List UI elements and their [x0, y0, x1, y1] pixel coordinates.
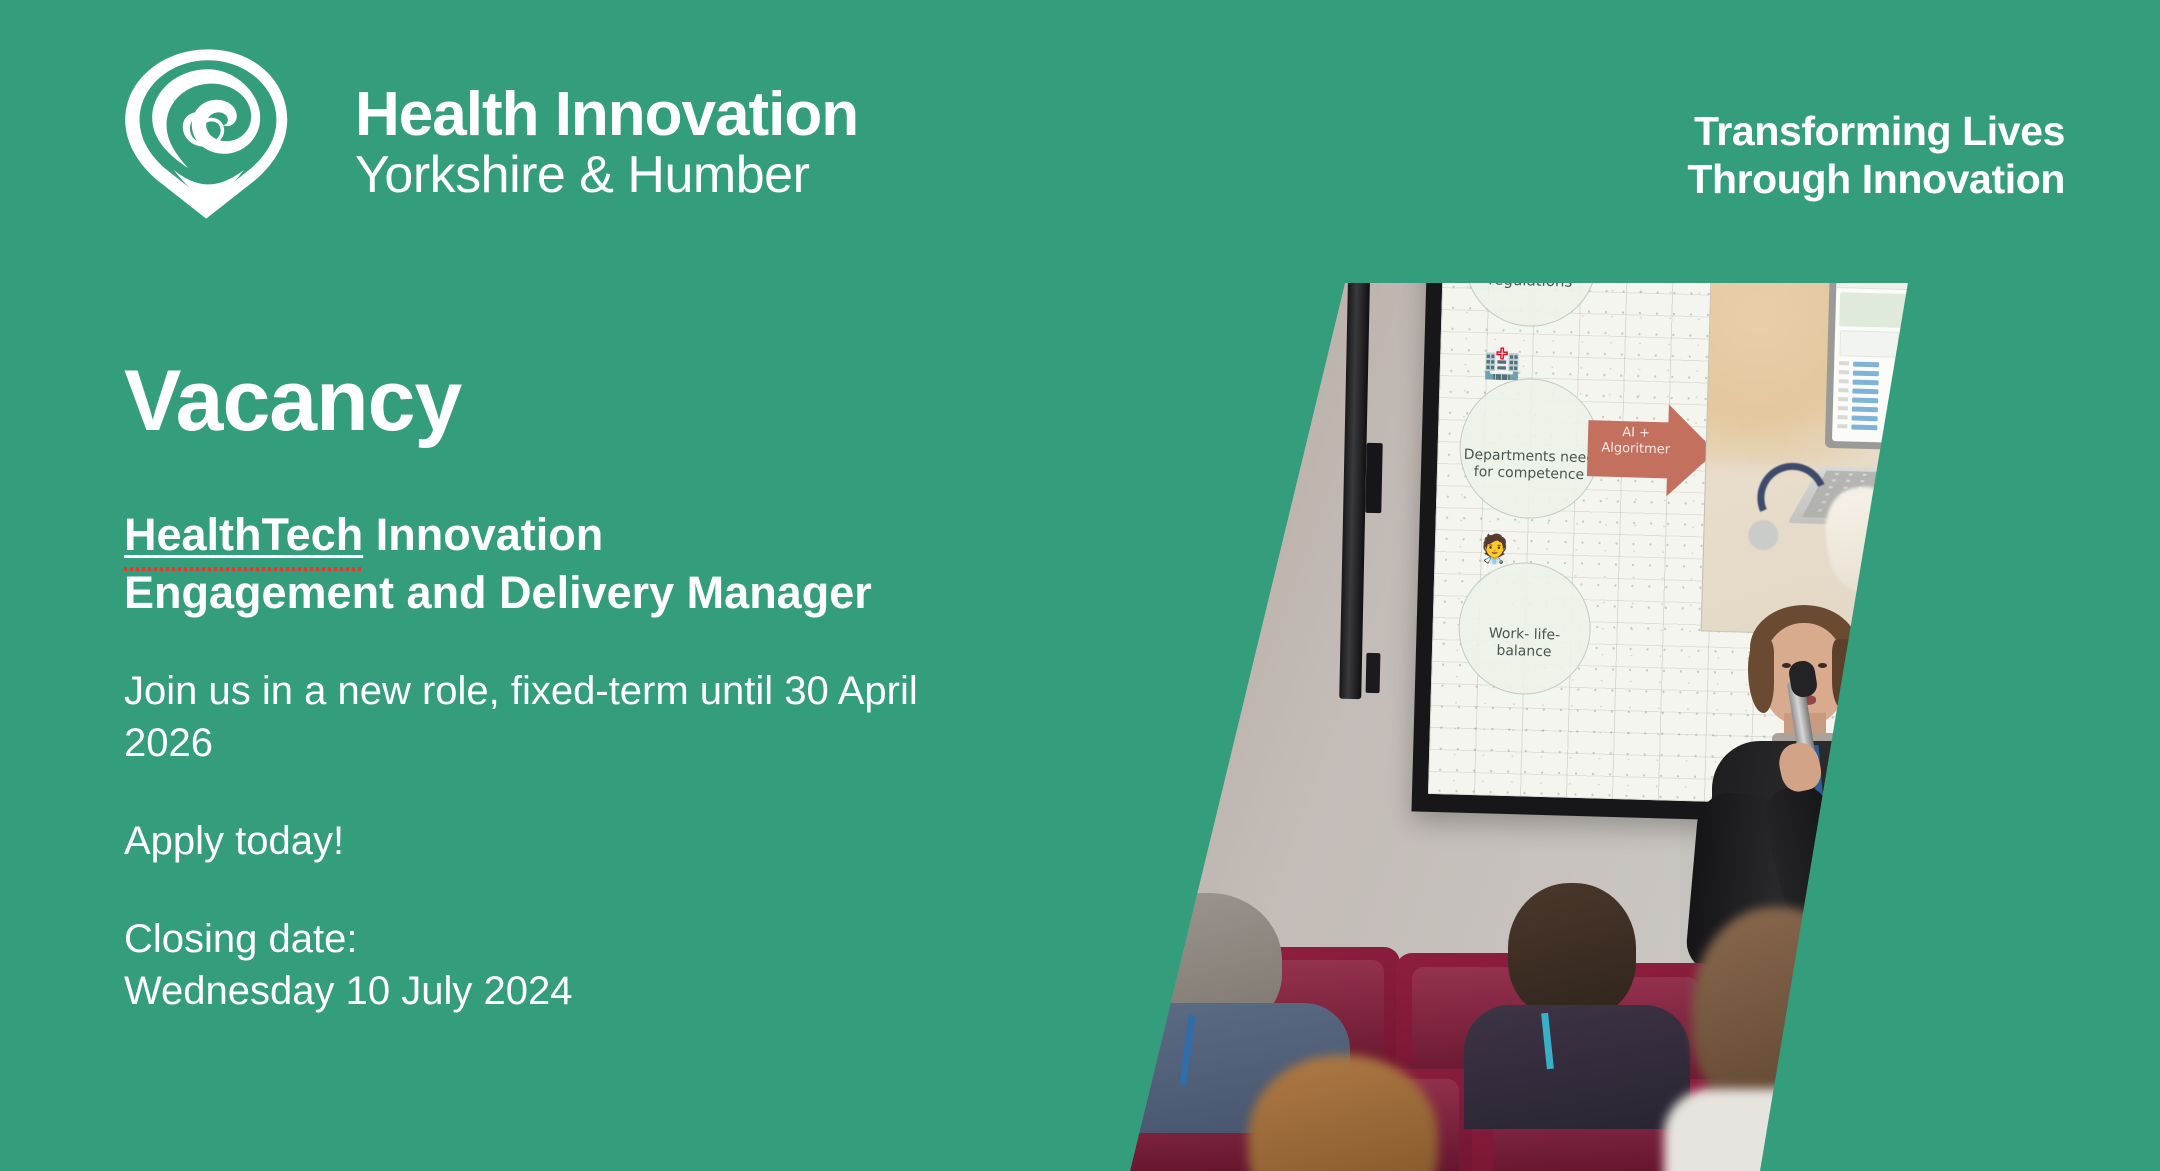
job-title-line1-rest: Innovation: [363, 509, 603, 560]
closing-date-value: Wednesday 10 July 2024: [124, 965, 1184, 1017]
role-blurb: Join us in a new role, fixed-term until …: [124, 665, 994, 769]
ai-arrow-label: AI + Algoritmer: [1595, 424, 1676, 459]
closing-date-label: Closing date:: [124, 913, 1184, 965]
projector-mount-knob-lower: [1366, 653, 1381, 693]
poster-copy: Vacancy HealthTech Innovation Engagement…: [124, 358, 1184, 1017]
nurse-icon: 🧑‍⚕️: [1477, 535, 1513, 564]
tagline-line1: Transforming Lives: [1687, 108, 2065, 156]
job-title: HealthTech Innovation Engagement and Del…: [124, 506, 1184, 621]
vacancy-poster: 🌿 Laws and regulations 🏥 Departments nee…: [0, 0, 2160, 1171]
brand-name-line2: Yorkshire & Humber: [355, 146, 858, 204]
logo-wordmark: Health Innovation Yorkshire & Humber: [355, 84, 858, 204]
hospital-icon: 🏥: [1483, 349, 1521, 380]
call-to-action: Apply today!: [124, 815, 1184, 867]
job-title-line2: Engagement and Delivery Manager: [124, 564, 1184, 622]
closing-date-block: Closing date: Wednesday 10 July 2024: [124, 913, 1184, 1017]
projector-mount-knob: [1365, 443, 1382, 513]
rose-spiral-logo-icon: [113, 44, 303, 224]
spellcheck-word: HealthTech: [124, 509, 363, 560]
brand-tagline: Transforming Lives Through Innovation: [1687, 108, 2065, 203]
stethoscope-chestpiece: [1748, 520, 1779, 551]
page-title: Vacancy: [124, 358, 1184, 444]
brand-name-line1: Health Innovation: [355, 84, 858, 146]
job-title-line1: HealthTech Innovation: [124, 506, 1184, 564]
ai-algorithm-arrow-icon: AI + Algoritmer: [1586, 402, 1717, 498]
tagline-line2: Through Innovation: [1687, 156, 2065, 204]
